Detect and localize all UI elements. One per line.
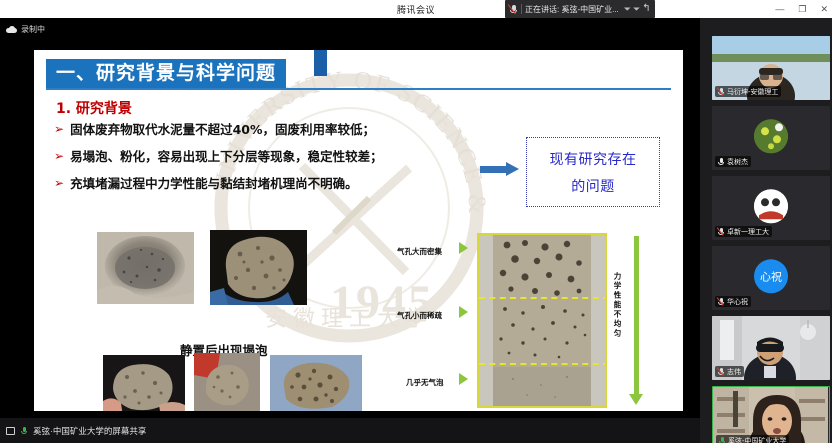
photo-core-specimen [477,233,607,408]
participant-name-2: 卓新一理工大 [727,227,769,237]
title-underline-rule [46,88,671,90]
window-title-bar: 腾讯会议 [0,0,832,18]
bullet-text: 易塌泡、粉化，容易出现上下分层等现象，稳定性较差； [70,149,383,164]
layer-divider-1 [479,297,607,299]
avatar-2 [754,189,788,223]
annotation-arrow-1 [459,242,468,254]
meeting-window: 腾讯会议 正在讲话: 奚弦-中国矿业... ⏷ ⏷ ↰ — ❐ ✕ 录制中 [0,0,832,443]
participant-name-badge-5: 奚弦-中国矿业大学 [716,435,789,443]
annotation-arrow-2 [459,306,468,318]
bullet-text: 充填堵漏过程中力学性能与黏结封堵机理尚不明确。 [70,176,358,191]
microphone-muted-icon [718,367,725,376]
microphone-active-icon [719,436,726,443]
annotation-small-sparse-pores: 气孔小而稀疏 [397,310,442,321]
chevron-down-icon[interactable]: ⏷ [624,5,631,14]
avatar-3: 心祝 [754,259,788,293]
restore-arrow-icon[interactable]: ↰ [642,4,650,14]
participant-tile-1[interactable]: 袁树杰 [712,106,830,170]
share-status-text: 奚弦·中国矿业大学的屏幕共享 [33,425,146,437]
maximize-button[interactable]: ❐ [798,5,806,14]
photo-collapsed-foam-top [97,232,194,304]
screen-share-icon [6,427,15,435]
watermark-year: 1945 [330,275,434,330]
chevron-down-icon-2[interactable]: ⏷ [633,5,640,14]
bullet-marker-icon: ➢ [54,149,64,164]
participant-name-badge-1: 袁树杰 [715,156,751,167]
participant-name-5: 奚弦-中国矿业大学 [728,436,786,443]
title-accent-square [314,50,327,76]
slide-title-container: 一、研究背景与科学问题 [46,59,286,90]
gradient-arrow-bar [634,236,639,396]
participant-name-badge-0: 马衍坤-安徽理工 [715,86,781,97]
close-button[interactable]: ✕ [820,5,828,14]
callout-line-1: 现有研究存在 [550,149,637,169]
participant-tile-2[interactable]: 卓新一理工大 [712,176,830,240]
app-title: 腾讯会议 [0,3,832,16]
layer-divider-2 [479,363,607,365]
speaker-banner-controls[interactable]: ⏷ ⏷ ↰ [624,4,651,14]
presentation-slide: UNIVERSITY OF SCIENCE & TECHNOLOGY 安徽理工大… [34,50,683,411]
list-item: ➢ 固体废弃物取代水泥量不超过40%，固废利用率较低； [54,122,484,137]
microphone-muted-icon [718,87,725,96]
participant-tile-3[interactable]: 心祝 华心祝 [712,246,830,310]
participant-name-badge-3: 华心祝 [715,296,751,307]
annotation-almost-no-pores: 几乎无气泡 [406,377,444,388]
bullet-text: 固体废弃物取代水泥量不超过40%，固废利用率较低； [70,122,375,137]
participant-name-badge-2: 卓新一理工大 [715,226,772,237]
recording-indicator: 录制中 [6,24,45,35]
photo-foam-chunk-top [210,230,307,305]
annotation-arrow-3 [459,373,468,385]
bullet-marker-icon: ➢ [54,176,64,191]
active-speaker-banner[interactable]: 正在讲话: 奚弦-中国矿业... ⏷ ⏷ ↰ [505,0,655,18]
minimize-button[interactable]: — [775,5,784,14]
list-item: ➢ 充填堵漏过程中力学性能与黏结封堵机理尚不明确。 [54,176,484,191]
microphone-active-icon [718,157,725,166]
shared-screen-area: 录制中 UNIVERSITY OF SCIENCE & TECHNOLOGY 安… [0,18,700,418]
gradient-arrow-head [629,394,643,405]
participant-name-0: 马衍坤-安徽理工 [727,87,778,97]
microphone-muted-icon [718,297,725,306]
callout-box: 现有研究存在 的问题 [526,137,660,207]
participant-tile-0[interactable]: 马衍坤-安徽理工 [712,36,830,100]
university-watermark: UNIVERSITY OF SCIENCE & TECHNOLOGY 安徽理工大… [184,58,514,388]
list-item: ➢ 易塌泡、粉化，容易出现上下分层等现象，稳定性较差； [54,149,484,164]
participant-tile-5[interactable]: 奚弦-中国矿业大学 [712,386,830,443]
cloud-recording-icon [6,26,17,33]
recording-label: 录制中 [21,24,45,35]
annotation-large-dense-pores: 气孔大而密集 [397,246,442,257]
section-heading: 1. 研究背景 [56,98,132,118]
callout-line-2: 的问题 [571,176,615,196]
participant-name-4: 志伟 [727,367,741,377]
photo-powdered-foam-3 [270,355,362,411]
participant-name-3: 华心祝 [727,297,748,307]
bullet-list: ➢ 固体废弃物取代水泥量不超过40%，固废利用率较低； ➢ 易塌泡、粉化，容易出… [54,122,484,203]
active-speaker-label: 正在讲话: 奚弦-中国矿业... [525,4,619,15]
participant-name-badge-4: 志伟 [715,366,744,377]
window-controls[interactable]: — ❐ ✕ [775,0,828,18]
participant-tile-4[interactable]: 志伟 [712,316,830,380]
slide-title: 一、研究背景与科学问题 [46,59,286,90]
participant-name-1: 袁树杰 [727,157,748,167]
participant-sidebar[interactable]: 马衍坤-安徽理工 袁树杰 [700,18,832,443]
microphone-active-icon [21,426,28,435]
microphone-muted-icon [509,4,518,15]
divider [521,4,522,14]
microphone-muted-icon [718,227,725,236]
photo-powdered-foam-1 [103,355,185,411]
right-arrow-icon [480,162,520,176]
photo-powdered-foam-2 [194,353,260,411]
avatar-1 [754,119,788,153]
share-status-bar: 奚弦·中国矿业大学的屏幕共享 [0,418,700,443]
vertical-annotation-label: 力学性能不均匀 [612,272,622,339]
bullet-marker-icon: ➢ [54,122,64,137]
